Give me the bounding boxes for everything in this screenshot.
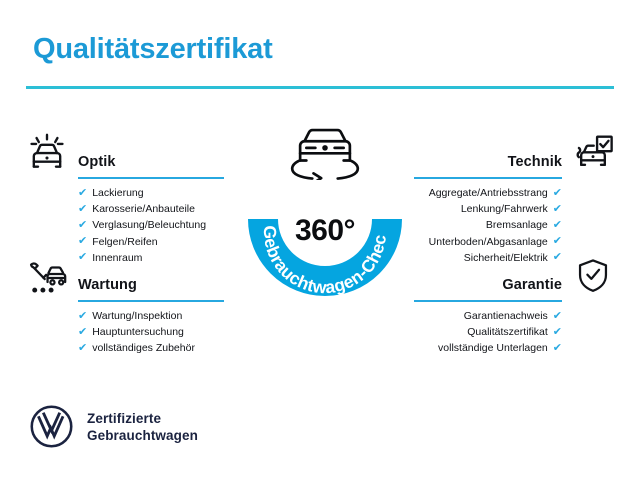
title-divider bbox=[26, 86, 614, 89]
list-item-label: Lackierung bbox=[92, 185, 143, 201]
list-item: vollständige Unterlagen✔ bbox=[438, 340, 562, 356]
vw-certified-logo: Zertifizierte Gebrauchtwagen bbox=[30, 405, 198, 448]
check-icon: ✔ bbox=[78, 220, 87, 231]
section-optik-list: ✔Lackierung ✔Karosserie/Anbauteile ✔Verg… bbox=[78, 185, 206, 266]
section-garantie-title: Garantie bbox=[502, 277, 562, 293]
wrench-car-icon bbox=[24, 255, 70, 297]
car-shine-icon bbox=[24, 132, 70, 174]
check-icon: ✔ bbox=[78, 327, 87, 338]
section-optik: Optik ✔Lackierung ✔Karosserie/Anbauteile… bbox=[24, 132, 224, 176]
list-item-label: Hauptuntersuchung bbox=[92, 324, 184, 340]
section-optik-header: Optik bbox=[24, 132, 224, 176]
section-technik: Technik Aggregate/Antriebsstrang✔ Lenkun… bbox=[414, 132, 616, 176]
vw-logo-text-line1: Zertifizierte bbox=[87, 410, 198, 427]
certificate-page: Qualitätszertifikat bbox=[0, 0, 640, 480]
check-icon: ✔ bbox=[553, 236, 562, 247]
badge-360-gebrauchtwagen-check: Gebrauchtwagen-Check 360° bbox=[240, 118, 410, 306]
list-item: Lenkung/Fahrwerk✔ bbox=[429, 201, 562, 217]
check-icon: ✔ bbox=[78, 204, 87, 215]
check-icon: ✔ bbox=[553, 327, 562, 338]
section-technik-list: Aggregate/Antriebsstrang✔ Lenkung/Fahrwe… bbox=[429, 185, 562, 266]
section-technik-divider bbox=[414, 177, 562, 179]
list-item-label: Verglasung/Beleuchtung bbox=[92, 217, 206, 233]
section-garantie: Garantie Garantienachweis✔ Qualitätszert… bbox=[414, 255, 616, 299]
vw-logo-icon bbox=[30, 405, 73, 448]
list-item: ✔Wartung/Inspektion bbox=[78, 308, 195, 324]
check-icon: ✔ bbox=[553, 311, 562, 322]
section-garantie-divider bbox=[414, 300, 562, 302]
section-wartung-divider bbox=[78, 300, 224, 302]
check-icon: ✔ bbox=[78, 343, 87, 354]
check-icon: ✔ bbox=[78, 311, 87, 322]
list-item: Aggregate/Antriebsstrang✔ bbox=[429, 185, 562, 201]
page-title: Qualitätszertifikat bbox=[33, 33, 273, 66]
section-optik-title: Optik bbox=[78, 154, 116, 170]
section-garantie-header: Garantie bbox=[414, 255, 616, 299]
list-item: Garantienachweis✔ bbox=[438, 308, 562, 324]
list-item-label: vollständige Unterlagen bbox=[438, 340, 548, 356]
check-icon: ✔ bbox=[78, 236, 87, 247]
section-wartung-header: Wartung bbox=[24, 255, 224, 299]
list-item: ✔Karosserie/Anbauteile bbox=[78, 201, 206, 217]
section-garantie-list: Garantienachweis✔ Qualitätszertifikat✔ v… bbox=[438, 308, 562, 357]
section-wartung: Wartung ✔Wartung/Inspektion ✔Hauptunters… bbox=[24, 255, 224, 299]
section-wartung-list: ✔Wartung/Inspektion ✔Hauptuntersuchung ✔… bbox=[78, 308, 195, 357]
vw-logo-text: Zertifizierte Gebrauchtwagen bbox=[87, 410, 198, 444]
check-icon: ✔ bbox=[553, 343, 562, 354]
list-item-label: vollständiges Zubehör bbox=[92, 340, 195, 356]
list-item: ✔Verglasung/Beleuchtung bbox=[78, 217, 206, 233]
list-item-label: Bremsanlage bbox=[486, 217, 548, 233]
list-item-label: Wartung/Inspektion bbox=[92, 308, 182, 324]
section-technik-title: Technik bbox=[508, 154, 562, 170]
list-item-label: Lenkung/Fahrwerk bbox=[461, 201, 548, 217]
section-wartung-title: Wartung bbox=[78, 277, 137, 293]
check-icon: ✔ bbox=[78, 188, 87, 199]
check-icon: ✔ bbox=[553, 204, 562, 215]
check-icon: ✔ bbox=[553, 188, 562, 199]
vw-logo-text-line2: Gebrauchtwagen bbox=[87, 427, 198, 444]
section-optik-divider bbox=[78, 177, 224, 179]
list-item: ✔Felgen/Reifen bbox=[78, 234, 206, 250]
list-item-label: Aggregate/Antriebsstrang bbox=[429, 185, 548, 201]
list-item: Unterboden/Abgasanlage✔ bbox=[429, 234, 562, 250]
list-item-label: Garantienachweis bbox=[464, 308, 548, 324]
list-item: Bremsanlage✔ bbox=[429, 217, 562, 233]
check-icon: ✔ bbox=[553, 220, 562, 231]
list-item: Qualitätszertifikat✔ bbox=[438, 324, 562, 340]
list-item: ✔Lackierung bbox=[78, 185, 206, 201]
car-checkbox-icon bbox=[570, 132, 616, 174]
badge-degrees-label: 360° bbox=[240, 214, 410, 248]
shield-check-icon bbox=[570, 255, 616, 297]
list-item: ✔vollständiges Zubehör bbox=[78, 340, 195, 356]
list-item-label: Unterboden/Abgasanlage bbox=[429, 234, 548, 250]
list-item-label: Felgen/Reifen bbox=[92, 234, 157, 250]
list-item: ✔Hauptuntersuchung bbox=[78, 324, 195, 340]
section-technik-header: Technik bbox=[414, 132, 616, 176]
list-item-label: Karosserie/Anbauteile bbox=[92, 201, 195, 217]
list-item-label: Qualitätszertifikat bbox=[467, 324, 548, 340]
